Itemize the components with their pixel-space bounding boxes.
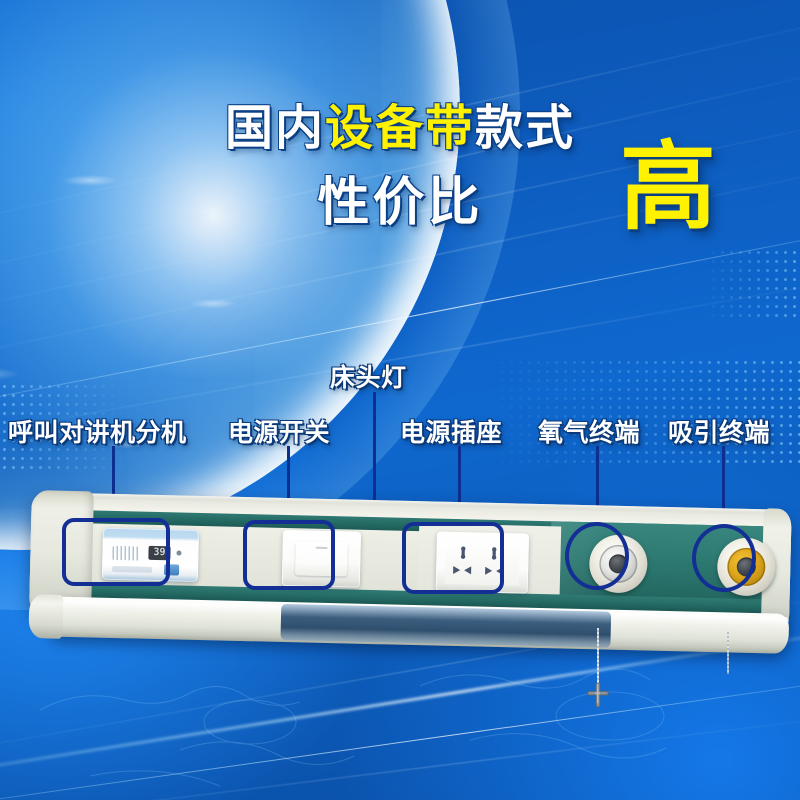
pull-cord-pendant-icon[interactable]	[586, 683, 610, 709]
callout-label-call-intercom: 呼叫对讲机分机	[8, 413, 187, 449]
headline-part-2-highlight: 设备带	[325, 102, 475, 155]
headline-part-1: 国内	[225, 102, 325, 155]
highlight-circle-oxygen[interactable]	[565, 522, 629, 590]
headline-emphasis-word: 高	[620, 140, 716, 236]
panel-rail-end-left	[28, 594, 63, 639]
callout-label-power-socket: 电源插座	[400, 413, 502, 449]
callout-label-power-switch: 电源开关	[228, 413, 330, 449]
callout-label-bed-lamp: 床头灯	[330, 358, 407, 394]
headline-subtitle: 性价比	[317, 174, 482, 232]
callout-label-oxygen-outlet: 氧气终端	[538, 413, 640, 449]
suction-pull-cord[interactable]	[727, 630, 729, 674]
callout-label-suction-outlet: 吸引终端	[668, 413, 770, 449]
intercom-indicator-led	[176, 550, 181, 555]
highlight-box-power-switch[interactable]	[243, 520, 335, 590]
headline-part-3: 款式	[475, 102, 575, 155]
promo-stage: 国内设备带款式 性价比 高 呼叫对讲机分机 电源开关 床头灯 电源插座 氧气终端…	[0, 0, 800, 800]
oxygen-pull-cord[interactable]	[597, 628, 599, 690]
highlight-box-call-intercom[interactable]	[62, 518, 170, 586]
highlight-circle-suction[interactable]	[692, 524, 756, 592]
highlight-box-power-socket[interactable]	[402, 522, 504, 594]
